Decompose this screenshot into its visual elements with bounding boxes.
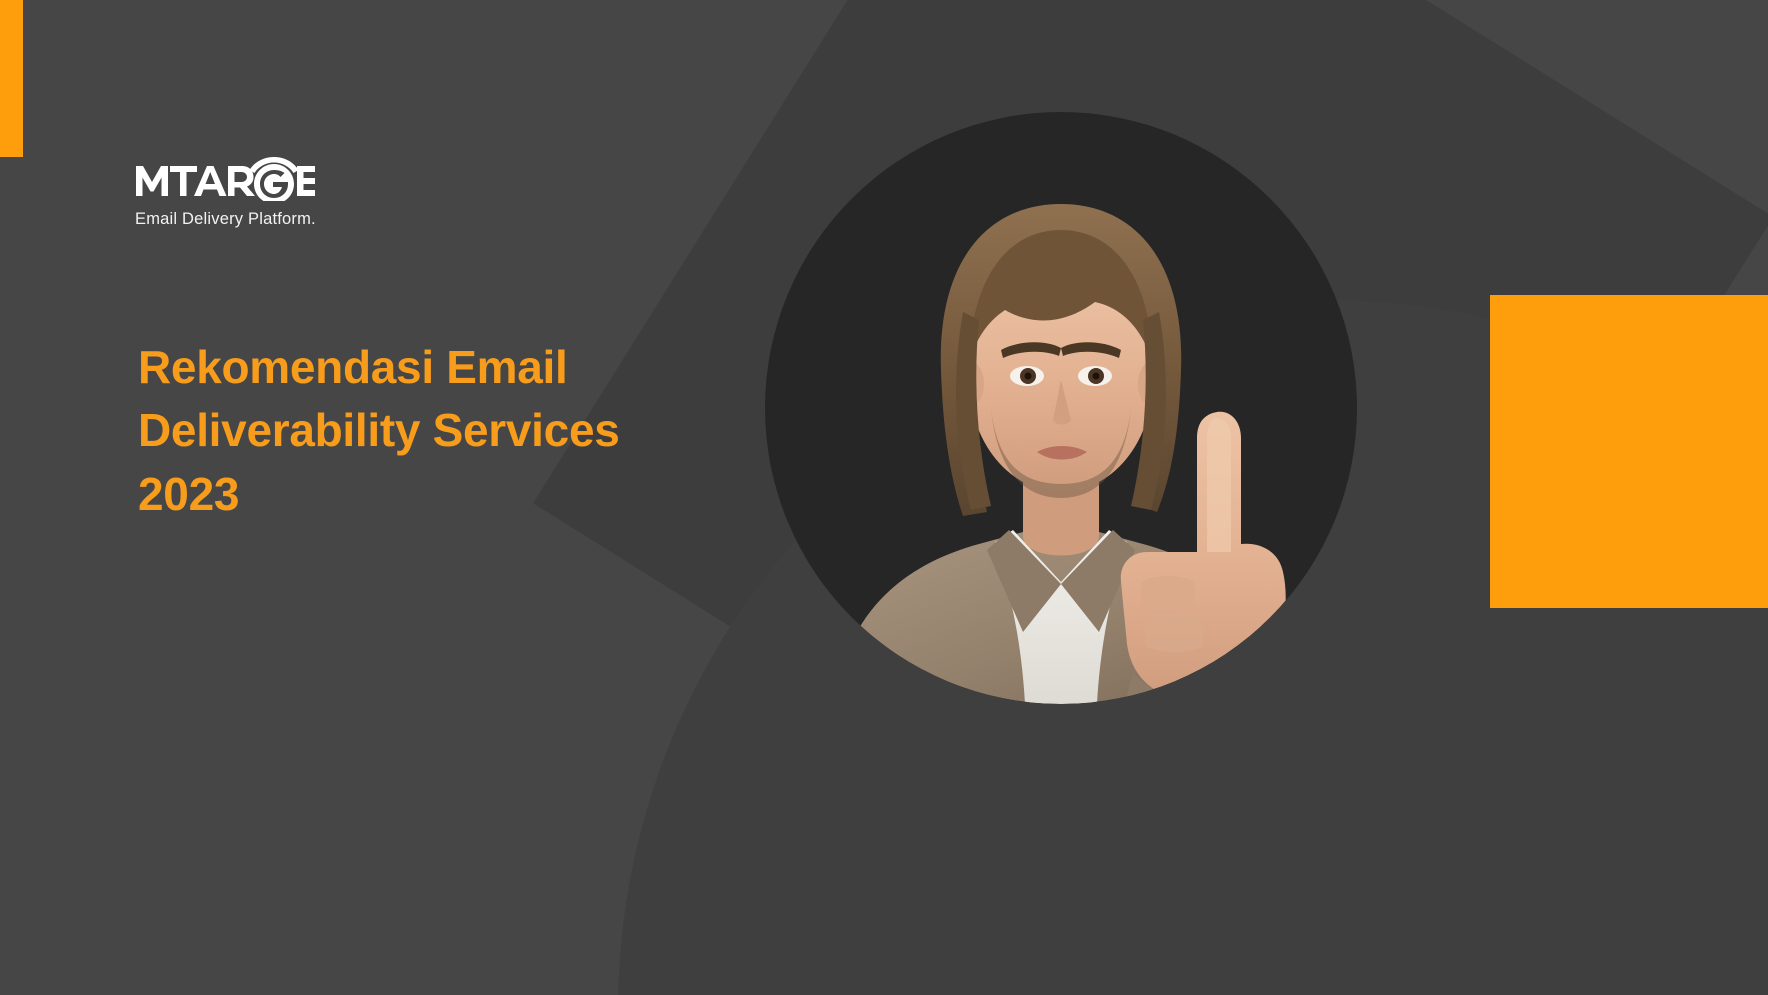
headline-line-1: Rekomendasi Email (138, 341, 568, 393)
headline-line-2: Deliverability Services (138, 404, 620, 456)
page-title: Rekomendasi Email Deliverability Service… (138, 336, 778, 526)
promo-banner: Email Delivery Platform. Rekomendasi Ema… (0, 0, 1768, 995)
portrait-person-illustration (765, 112, 1357, 704)
brand-logo: Email Delivery Platform. (135, 155, 316, 229)
accent-bar-top-left (0, 0, 23, 157)
mtarget-wordmark-icon (135, 155, 315, 201)
brand-tagline: Email Delivery Platform. (135, 210, 316, 229)
headline-line-3: 2023 (138, 468, 239, 520)
portrait-circle (765, 112, 1357, 704)
accent-rectangle-right (1490, 295, 1768, 608)
